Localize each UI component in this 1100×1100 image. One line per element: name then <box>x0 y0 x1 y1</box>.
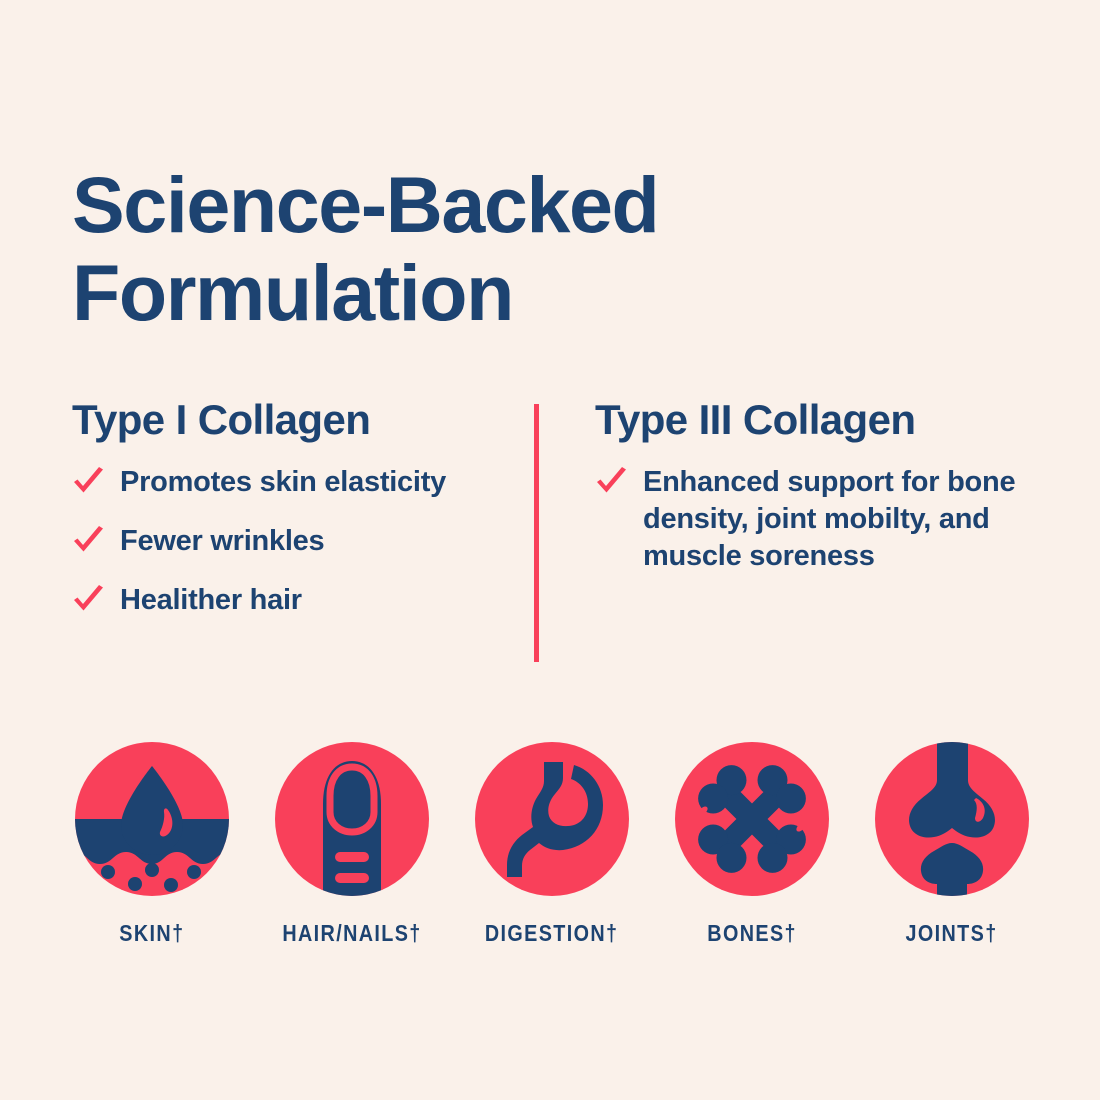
benefit-digestion: DIGESTION† <box>462 742 642 947</box>
stomach-icon <box>475 742 629 896</box>
list-item-label: Fewer wrinkles <box>120 523 324 560</box>
knee-joint-icon <box>875 742 1029 896</box>
infographic-page: Science-Backed Formulation Type I Collag… <box>0 0 1100 1100</box>
benefit-list-type-i: Promotes skin elasticity Fewer wrinkles <box>72 464 522 619</box>
fingernail-icon <box>275 742 429 896</box>
list-item-label: Promotes skin elasticity <box>120 464 446 501</box>
column-type-iii: Type III Collagen Enhanced support for b… <box>595 398 1050 575</box>
check-icon <box>72 585 106 615</box>
list-item-label: Enhanced support for bone density, joint… <box>643 464 1028 575</box>
collagen-columns: Type I Collagen Promotes skin elasticity <box>72 398 1032 673</box>
benefit-label: DIGESTION† <box>485 920 619 947</box>
page-title: Science-Backed Formulation <box>72 161 952 336</box>
column-title-type-i: Type I Collagen <box>72 398 522 442</box>
check-icon <box>595 467 629 497</box>
list-item: Fewer wrinkles <box>72 523 522 560</box>
check-icon <box>72 526 106 556</box>
list-item: Healither hair <box>72 582 522 619</box>
skin-droplet-icon <box>75 742 229 896</box>
list-item: Enhanced support for bone density, joint… <box>595 464 1050 575</box>
benefit-hair-nails: HAIR/NAILS† <box>262 742 442 947</box>
benefit-label: JOINTS† <box>906 920 998 947</box>
benefit-list-type-iii: Enhanced support for bone density, joint… <box>595 464 1050 575</box>
benefit-label: HAIR/NAILS† <box>282 920 421 947</box>
benefit-label: SKIN† <box>119 920 184 947</box>
crossed-bones-icon <box>675 742 829 896</box>
list-item: Promotes skin elasticity <box>72 464 522 501</box>
column-title-type-iii: Type III Collagen <box>595 398 1050 442</box>
column-type-i: Type I Collagen Promotes skin elasticity <box>72 398 522 619</box>
check-icon <box>72 467 106 497</box>
benefit-bones: BONES† <box>662 742 842 947</box>
column-divider <box>534 404 539 662</box>
benefit-label: BONES† <box>707 920 797 947</box>
benefit-skin: SKIN† <box>62 742 242 947</box>
list-item-label: Healither hair <box>120 582 302 619</box>
benefit-joints: JOINTS† <box>862 742 1042 947</box>
benefit-icons-row: SKIN† HAIR/NAILS† <box>62 742 1042 947</box>
